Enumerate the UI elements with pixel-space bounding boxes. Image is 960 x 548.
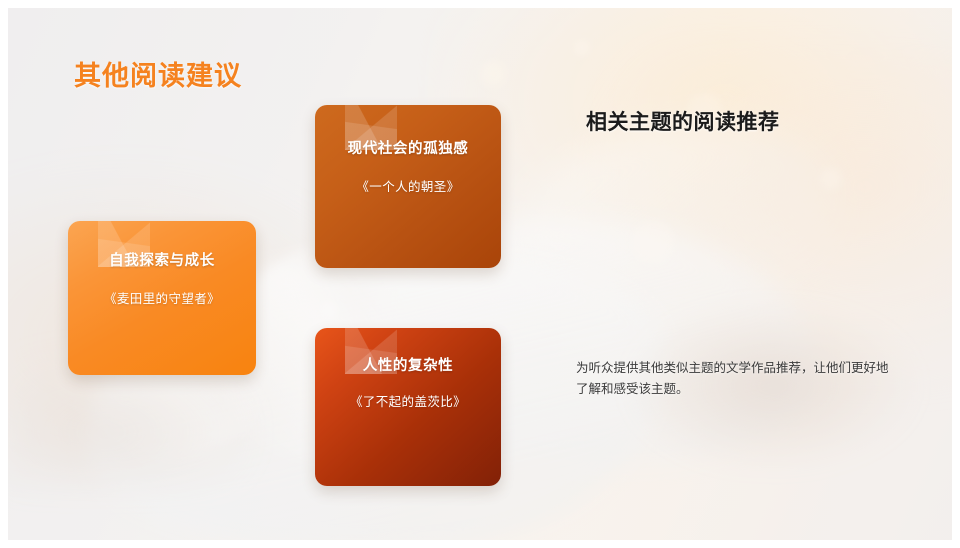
- card-title: 人性的复杂性: [315, 354, 501, 375]
- page-title: 其他阅读建议: [74, 54, 242, 93]
- card-subtitle: 《麦田里的守望者》: [68, 288, 256, 307]
- recommendation-card-2[interactable]: 现代社会的孤独感 《一个人的朝圣》: [315, 105, 501, 268]
- card-subtitle: 《了不起的盖茨比》: [315, 391, 501, 410]
- card-subtitle: 《一个人的朝圣》: [315, 176, 501, 195]
- slide: 其他阅读建议 相关主题的阅读推荐 为听众提供其他类似主题的文学作品推荐，让他们更…: [0, 0, 960, 548]
- section-paragraph: 为听众提供其他类似主题的文学作品推荐，让他们更好地了解和感受该主题。: [576, 358, 894, 400]
- recommendation-card-3[interactable]: 人性的复杂性 《了不起的盖茨比》: [315, 328, 501, 486]
- card-title: 自我探索与成长: [68, 249, 256, 270]
- slide-canvas: 其他阅读建议 相关主题的阅读推荐 为听众提供其他类似主题的文学作品推荐，让他们更…: [8, 8, 952, 540]
- recommendation-card-1[interactable]: 自我探索与成长 《麦田里的守望者》: [68, 221, 256, 375]
- section-heading: 相关主题的阅读推荐: [586, 106, 780, 136]
- card-title: 现代社会的孤独感: [315, 137, 501, 158]
